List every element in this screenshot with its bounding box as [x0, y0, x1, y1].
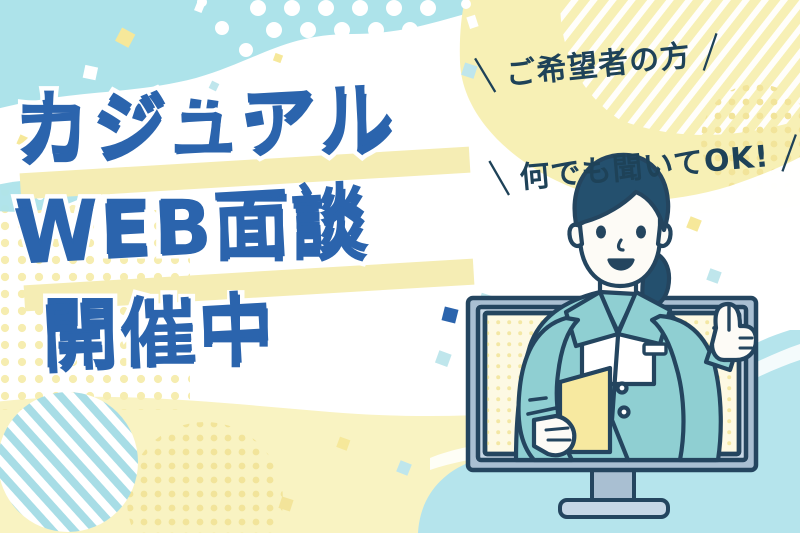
recruitment-banner: カジュアル カジュアル WEB面談 WEB面談 開催中 開催中 ＼ご希望者の方／… — [0, 0, 800, 533]
jacket-button-2 — [620, 408, 629, 417]
monitor-and-person-illustration — [0, 0, 800, 533]
hand-left — [534, 416, 574, 455]
jacket-button-1 — [618, 384, 627, 393]
eye-right — [636, 226, 646, 239]
eye-left — [596, 226, 606, 239]
mouth — [609, 260, 633, 269]
name-badge — [644, 344, 666, 354]
ear-left — [569, 225, 582, 246]
sleeve-fold — [530, 398, 546, 400]
